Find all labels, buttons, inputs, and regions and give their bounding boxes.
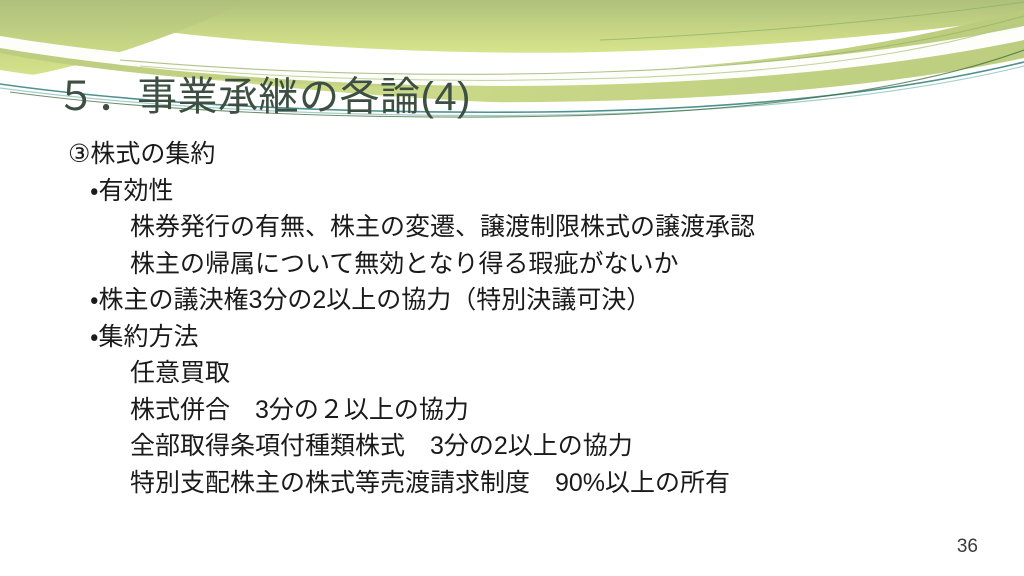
slide-title: ５．事業承継の各論(4) [56,74,471,121]
slide-canvas: ５．事業承継の各論(4) ③株式の集約・有効性株券発行の有無、株主の変遷、譲渡制… [0,0,1024,576]
wave-olive-line-2 [140,22,1024,80]
body-line: ③株式の集約 [68,136,998,173]
body-line: 株主の帰属について無効となり得る瑕疵がないか [68,246,998,283]
wave-band-top [0,0,1024,53]
body-line: ・有効性 [68,173,998,210]
body-line: 株券発行の有無、株主の変遷、譲渡制限株式の譲渡承認 [68,209,998,246]
wave-block-left [0,0,250,80]
wave-olive-line-3 [600,2,1024,40]
body-line: 任意買取 [68,355,998,392]
page-number: 36 [957,536,978,558]
body-line: 特別支配株主の株式等売渡請求制度 90%以上の所有 [68,465,998,502]
wave-olive-line-1 [120,16,1024,74]
body-line: 全部取得条項付種類株式 3分の2以上の協力 [68,428,998,465]
body-line: 株式併合 3分の２以上の協力 [68,392,998,429]
slide-body: ③株式の集約・有効性株券発行の有無、株主の変遷、譲渡制限株式の譲渡承認株主の帰属… [68,136,998,501]
body-line: ・集約方法 [68,319,998,356]
body-line: ・株主の議決権3分の2以上の協力（特別決議可決） [68,282,998,319]
